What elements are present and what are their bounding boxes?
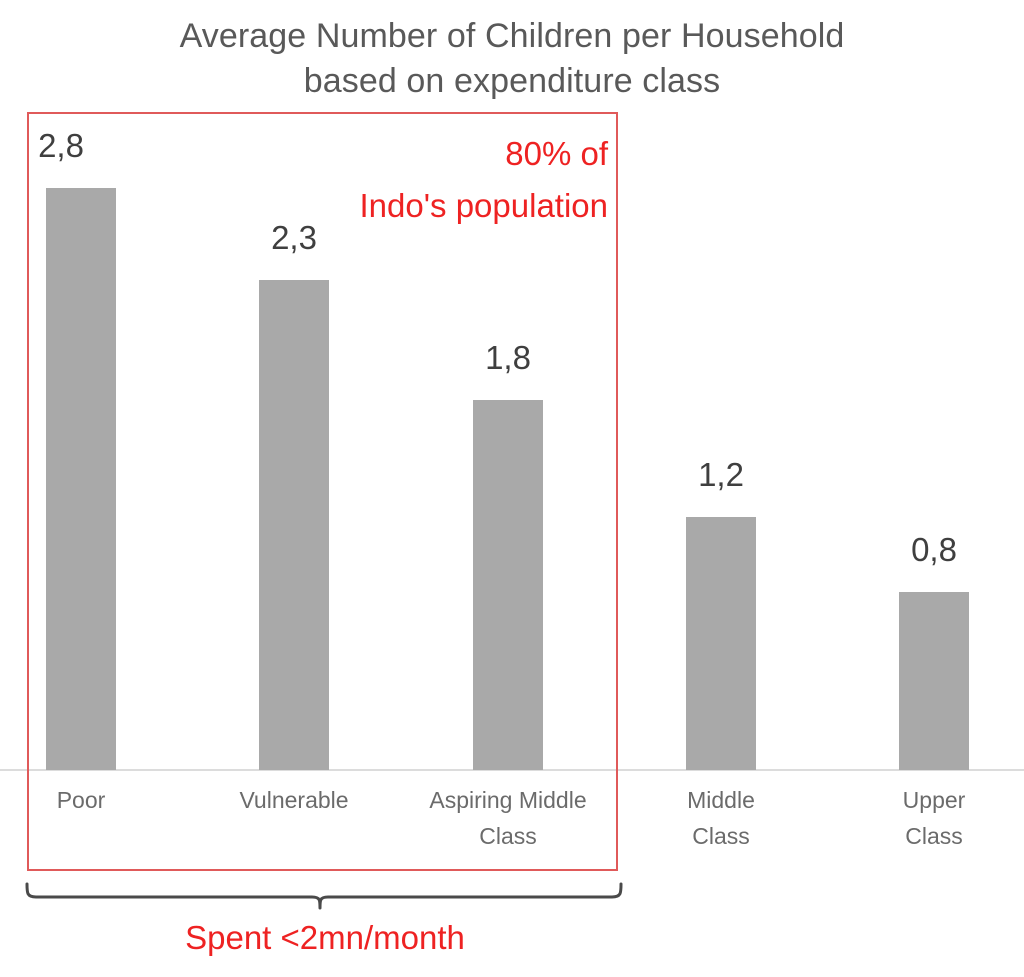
bar-value-label: 2,8	[1, 128, 121, 164]
category-label-aspiring-middle-class-line1: Aspiring Middle	[408, 782, 608, 818]
callout-bottom-spending: Spent <2mn/month	[20, 918, 630, 958]
category-label-poor: Poor	[0, 782, 181, 818]
category-label-middle-class-line2: Class	[621, 818, 821, 854]
bar-value-label: 1,2	[661, 457, 781, 493]
bar-aspiring-middle-class[interactable]	[473, 400, 543, 770]
chart-canvas: Average Number of Children per Household…	[0, 0, 1024, 977]
callout-top-population: 80% of Indo's population	[258, 128, 608, 232]
bar-poor[interactable]	[46, 188, 116, 770]
callout-top-line-2: Indo's population	[258, 180, 608, 232]
bottom-brace	[20, 880, 630, 920]
category-label-upper-class-line1: Upper	[834, 782, 1024, 818]
bar-value-label: 1,8	[448, 340, 568, 376]
category-label-upper-class-line2: Class	[834, 818, 1024, 854]
callout-top-line-1: 80% of	[258, 128, 608, 180]
category-label-vulnerable: Vulnerable	[194, 782, 394, 818]
bar-middle-class[interactable]	[686, 517, 756, 770]
bar-value-label: 0,8	[874, 532, 994, 568]
category-label-middle-class-line1: Middle	[621, 782, 821, 818]
bar-vulnerable[interactable]	[259, 280, 329, 770]
bar-upper-class[interactable]	[899, 592, 969, 770]
category-label-aspiring-middle-class-line2: Class	[408, 818, 608, 854]
